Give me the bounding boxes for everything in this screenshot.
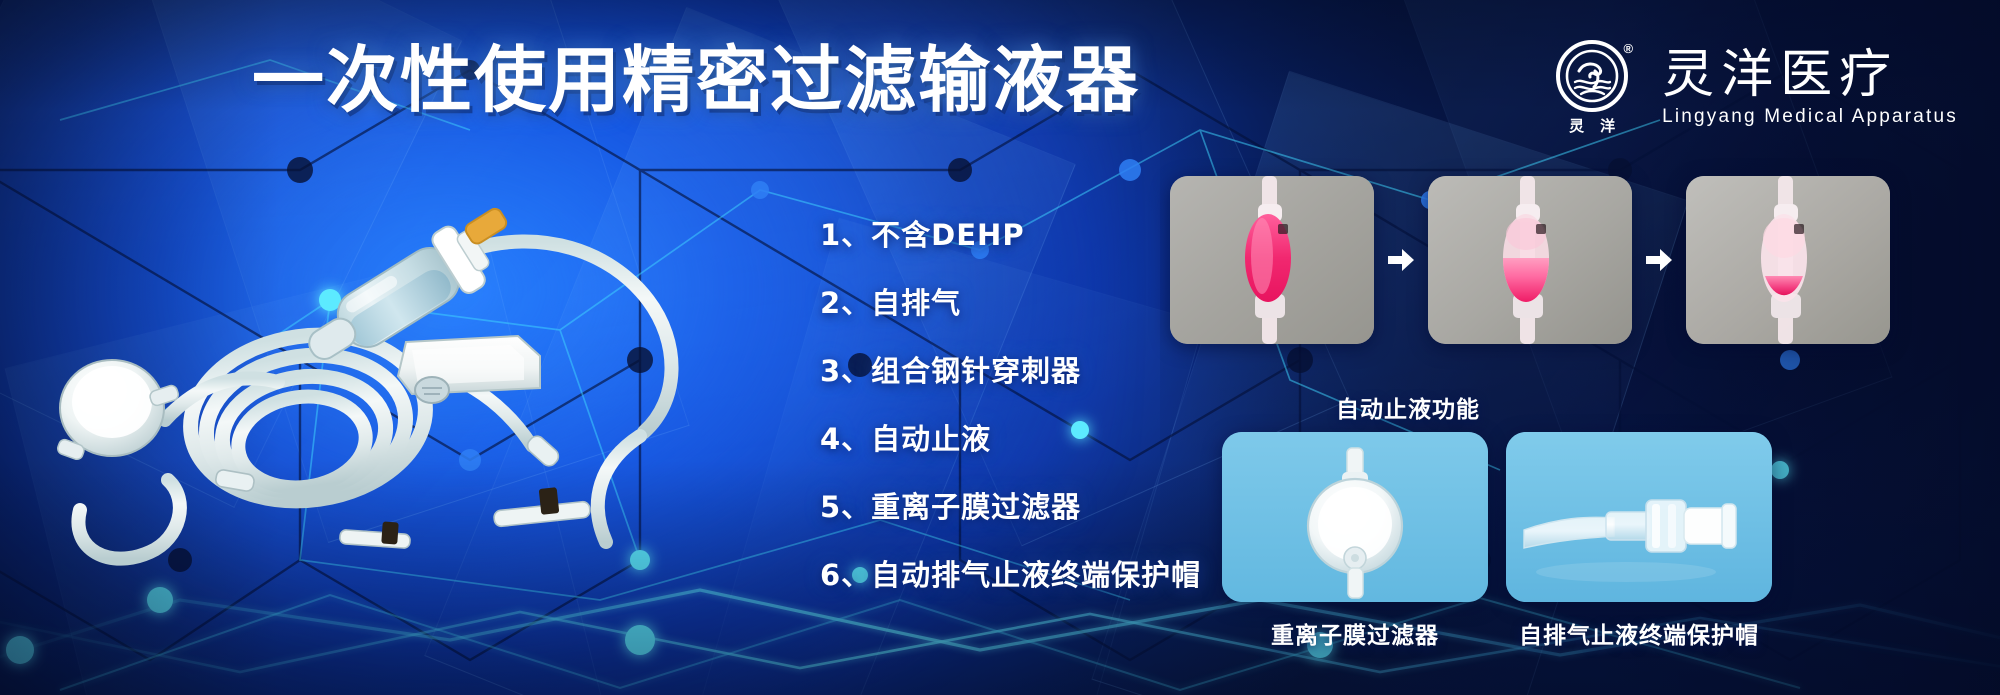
emblem-subtext: 灵洋 [1553, 115, 1631, 136]
auto-stop-frame-2 [1428, 176, 1632, 344]
filter-illustration [1222, 432, 1488, 602]
wave-bird-emblem-icon [1565, 49, 1619, 103]
auto-stop-caption-wrap: 自动止液功能 [1170, 390, 1646, 424]
feature-item-2: 2、自排气 [820, 280, 1201, 322]
company-logo: ® 灵洋 灵洋医疗 Lingyang Medical Apparatus [1544, 40, 1958, 136]
iv-set-illustration [40, 150, 700, 570]
auto-stop-caption: 自动止液功能 [1336, 397, 1480, 423]
feature-list: 1、不含DEHP 2、自排气 3、组合钢针穿刺器 4、自动止液 5、重离子膜过滤… [820, 212, 1201, 594]
company-name-en: Lingyang Medical Apparatus [1662, 106, 1958, 128]
terminal-cap-caption-cell: 自排气止液终端保护帽 [1506, 616, 1772, 650]
auto-stop-demo-sequence [1170, 176, 1890, 344]
inline-filter-disc [56, 360, 180, 461]
sequence-arrow-2 [1632, 245, 1686, 275]
page-title: 一次性使用精密过滤输液器 [252, 44, 1140, 116]
logo-text-block: 灵洋医疗 Lingyang Medical Apparatus [1662, 48, 1958, 129]
feature-item-6: 6、自动排气止液终端保护帽 [820, 552, 1201, 594]
company-name-cn: 灵洋医疗 [1662, 48, 1958, 103]
heavy-ion-membrane-filter-photo [1222, 432, 1488, 602]
logo-emblem: ® 灵洋 [1544, 40, 1640, 136]
emblem-circle-icon [1556, 40, 1628, 112]
arrow-right-icon [1386, 245, 1416, 275]
iv-infusion-set-photo [40, 150, 700, 570]
title-block: 一次性使用精密过滤输液器 [252, 44, 1140, 116]
feature-item-3: 3、组合钢针穿刺器 [820, 348, 1201, 390]
sequence-arrow-1 [1374, 245, 1428, 275]
terminal-cap-caption: 自排气止液终端保护帽 [1519, 623, 1759, 649]
registered-trademark-icon: ® [1623, 42, 1633, 55]
arrow-right-icon [1644, 245, 1674, 275]
filter-caption: 重离子膜过滤器 [1271, 623, 1439, 649]
feature-item-1: 1、不含DEHP [820, 212, 1201, 254]
terminal-needle-assembly [340, 487, 591, 548]
frame2-illustration [1428, 176, 1632, 344]
auto-stop-frame-3 [1686, 176, 1890, 344]
part-photo-row [1222, 432, 1772, 602]
filter-caption-cell: 重离子膜过滤器 [1222, 616, 1488, 650]
terminal-cap-illustration [1506, 432, 1772, 602]
auto-vent-stop-terminal-cap-photo [1506, 432, 1772, 602]
feature-item-5: 5、重离子膜过滤器 [820, 484, 1201, 526]
part-caption-row: 重离子膜过滤器 自排气止液终端保护帽 [1222, 616, 1772, 650]
product-banner: 一次性使用精密过滤输液器 ® 灵洋 灵洋医疗 Lingyang Medical … [0, 0, 2000, 695]
frame3-illustration [1686, 176, 1890, 344]
feature-item-4: 4、自动止液 [820, 416, 1201, 458]
